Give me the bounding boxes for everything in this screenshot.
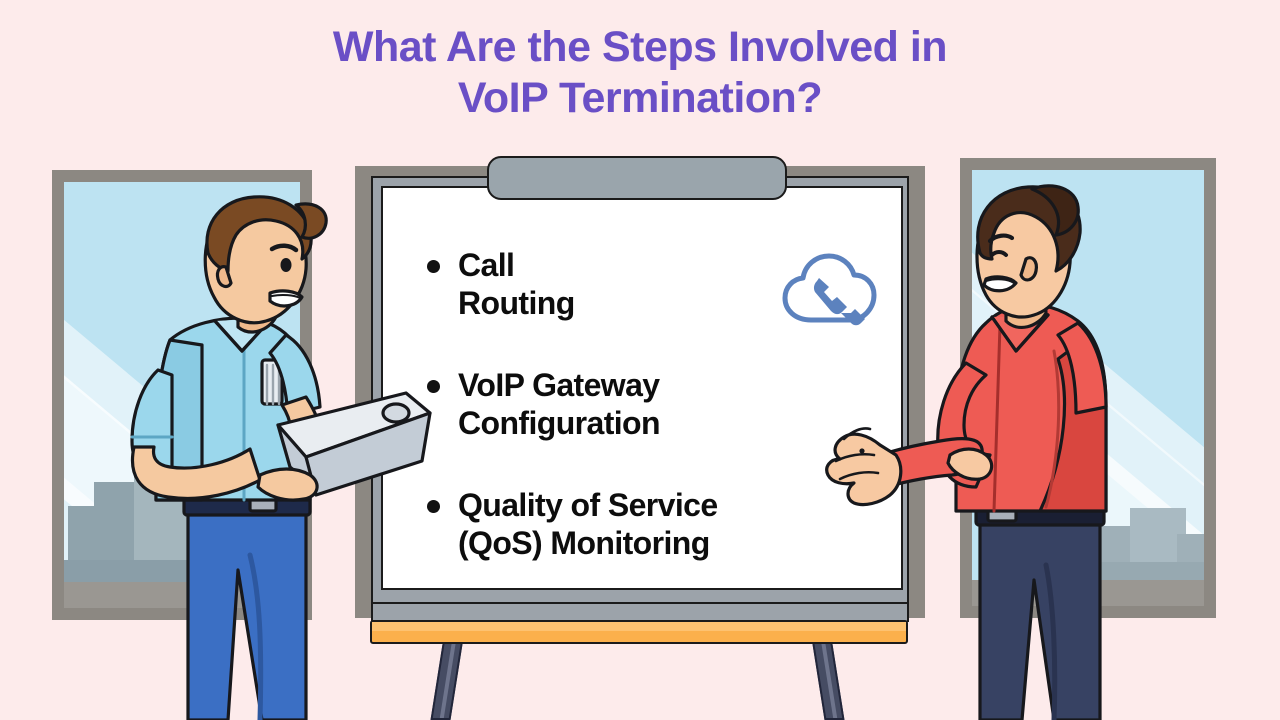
whiteboard-clip [487, 156, 787, 200]
list-item: Quality of Service (QoS) Monitoring [427, 486, 857, 562]
person-right [810, 155, 1140, 720]
person-left [110, 175, 440, 720]
bullet-label: VoIP Gateway Configuration [458, 366, 660, 442]
page-title-line-2: VoIP Termination? [0, 73, 1280, 124]
page-title-line-1: What Are the Steps Involved in [0, 22, 1280, 73]
bullet-label: Quality of Service (QoS) Monitoring [458, 486, 718, 562]
page-title: What Are the Steps Involved in VoIP Term… [0, 22, 1280, 124]
bullet-label: Call Routing [458, 246, 575, 322]
list-item: VoIP Gateway Configuration [427, 366, 857, 442]
